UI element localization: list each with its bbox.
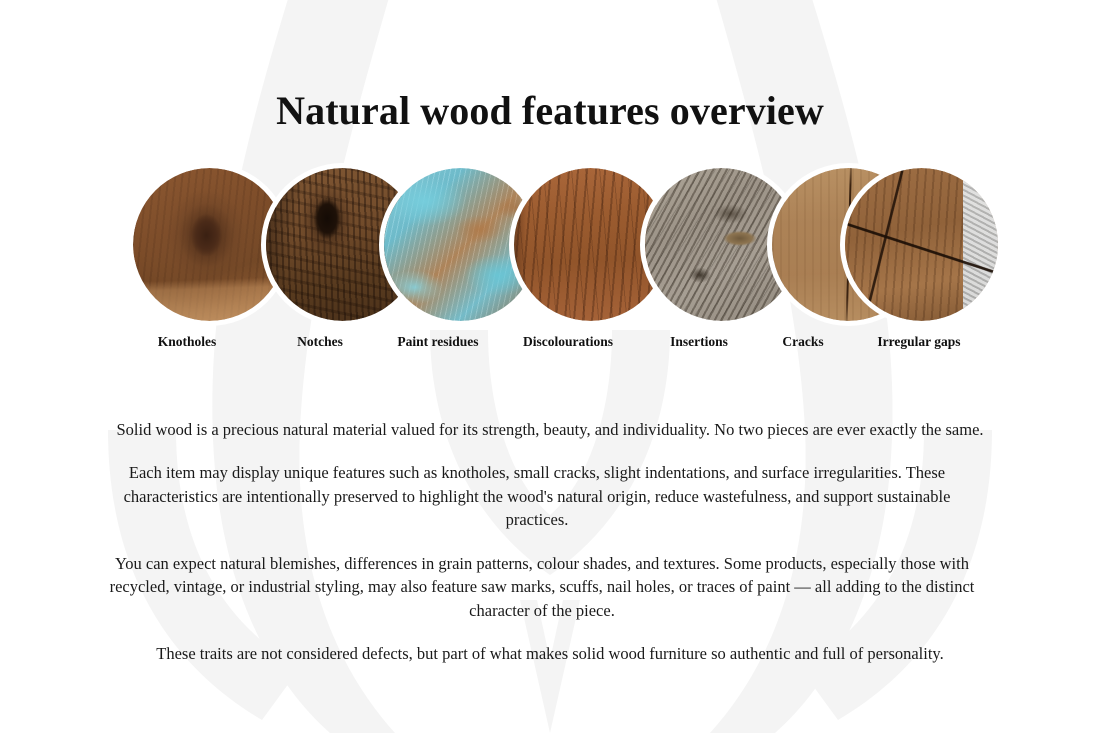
body-paragraph-1: Solid wood is a precious natural materia…	[92, 418, 1008, 441]
feature-circle-strip: Knotholes Notches Paint residues Discolo…	[0, 168, 1100, 368]
page-title: Natural wood features overview	[0, 89, 1100, 134]
body-paragraph-2: Each item may display unique features su…	[92, 461, 982, 531]
wood-irregular-gap-photo	[845, 168, 998, 321]
wood-knothole-photo	[133, 168, 286, 321]
feature-label-irregular-gaps: Irregular gaps	[819, 334, 1019, 350]
body-paragraph-4: These traits are not considered defects,…	[92, 642, 1008, 665]
body-copy: Solid wood is a precious natural materia…	[92, 418, 1008, 665]
body-paragraph-3: You can expect natural blemishes, differ…	[92, 552, 992, 622]
infographic-page: Natural wood features overview Knotholes…	[0, 0, 1100, 733]
